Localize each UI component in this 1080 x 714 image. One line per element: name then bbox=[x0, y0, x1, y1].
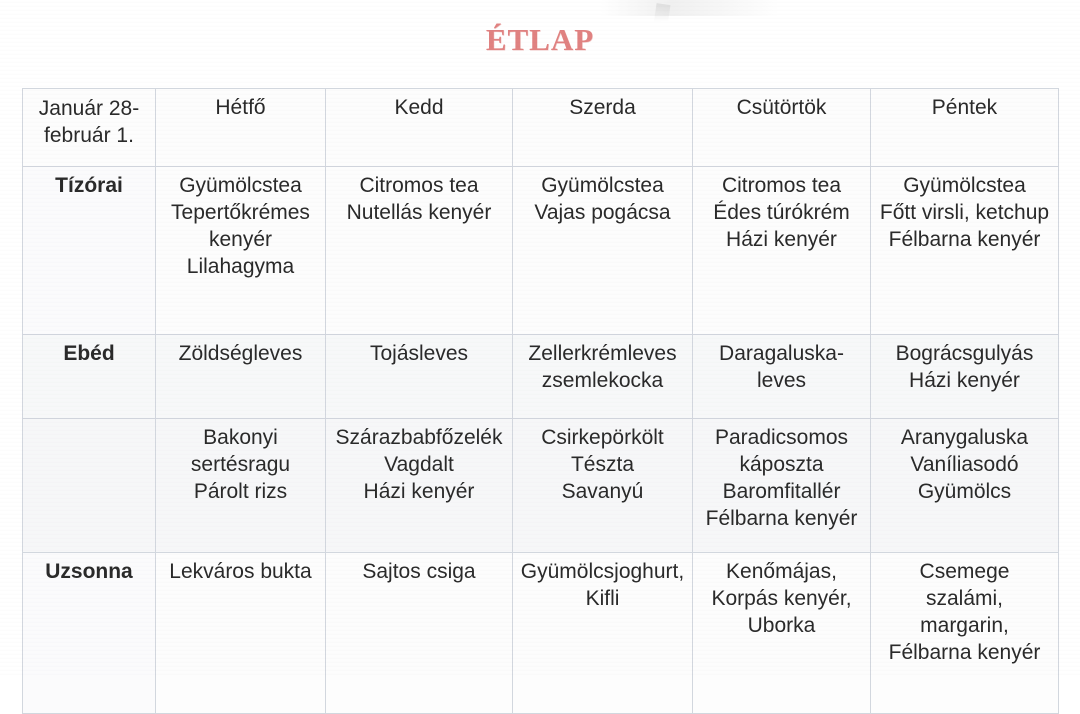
header-day-wednesday: Szerda bbox=[513, 89, 693, 167]
cell-ebed-main-friday: Aranygaluska Vaníliasodó Gyümölcs bbox=[871, 419, 1059, 553]
cell-ebed-soup-monday: Zöldségleves bbox=[156, 335, 326, 419]
cell-tizorai-friday: Gyümölcstea Főtt virsli, ketchup Félbarn… bbox=[871, 167, 1059, 335]
cell-ebed-soup-wednesday: Zellerkrémleves zsemlekocka bbox=[513, 335, 693, 419]
table-row-ebed-main: Bakonyi sertésragu Párolt rizs Szárazbab… bbox=[23, 419, 1059, 553]
cell-uzsonna-wednesday: Gyümölcsjoghurt, Kifli bbox=[513, 553, 693, 714]
table-row-uzsonna: Uzsonna Lekváros bukta Sajtos csiga Gyüm… bbox=[23, 553, 1059, 714]
header-day-monday: Hétfő bbox=[156, 89, 326, 167]
cell-ebed-main-thursday: Paradicsomos káposzta Baromfitallér Félb… bbox=[693, 419, 871, 553]
row-label-tizorai: Tízórai bbox=[23, 167, 156, 335]
header-row: Január 28- február 1. Hétfő Kedd Szerda … bbox=[23, 89, 1059, 167]
table-row-tizorai: Tízórai Gyümölcstea Tepertőkrémes kenyér… bbox=[23, 167, 1059, 335]
scan-artifact-band bbox=[600, 0, 780, 16]
cell-tizorai-monday: Gyümölcstea Tepertőkrémes kenyér Lilahag… bbox=[156, 167, 326, 335]
cell-uzsonna-monday: Lekváros bukta bbox=[156, 553, 326, 714]
cell-uzsonna-tuesday: Sajtos csiga bbox=[326, 553, 513, 714]
cell-tizorai-thursday: Citromos tea Édes túrókrém Házi kenyér bbox=[693, 167, 871, 335]
header-day-thursday: Csütörtök bbox=[693, 89, 871, 167]
table-body: Tízórai Gyümölcstea Tepertőkrémes kenyér… bbox=[23, 167, 1059, 714]
cell-uzsonna-thursday: Kenőmájas, Korpás kenyér, Uborka bbox=[693, 553, 871, 714]
cell-ebed-soup-thursday: Daragaluska- leves bbox=[693, 335, 871, 419]
cell-uzsonna-friday: Csemege szalámi, margarin, Félbarna keny… bbox=[871, 553, 1059, 714]
table-row-ebed-soup: Ebéd Zöldségleves Tojásleves Zellerkréml… bbox=[23, 335, 1059, 419]
header-day-friday: Péntek bbox=[871, 89, 1059, 167]
cell-ebed-main-tuesday: Szárazbabfőzelék Vagdalt Házi kenyér bbox=[326, 419, 513, 553]
row-label-ebed-main-empty bbox=[23, 419, 156, 553]
cell-ebed-main-monday: Bakonyi sertésragu Párolt rizs bbox=[156, 419, 326, 553]
cell-ebed-soup-friday: Bográcsgulyás Házi kenyér bbox=[871, 335, 1059, 419]
cell-ebed-main-wednesday: Csirkepörkölt Tészta Savanyú bbox=[513, 419, 693, 553]
page-title: ÉTLAP bbox=[0, 22, 1080, 58]
row-label-ebed: Ebéd bbox=[23, 335, 156, 419]
cell-tizorai-tuesday: Citromos tea Nutellás kenyér bbox=[326, 167, 513, 335]
table-header: Január 28- február 1. Hétfő Kedd Szerda … bbox=[23, 89, 1059, 167]
row-label-uzsonna: Uzsonna bbox=[23, 553, 156, 714]
menu-table: Január 28- február 1. Hétfő Kedd Szerda … bbox=[22, 88, 1059, 714]
header-day-tuesday: Kedd bbox=[326, 89, 513, 167]
cell-ebed-soup-tuesday: Tojásleves bbox=[326, 335, 513, 419]
header-date-range: Január 28- február 1. bbox=[23, 89, 156, 167]
cell-tizorai-wednesday: Gyümölcstea Vajas pogácsa bbox=[513, 167, 693, 335]
